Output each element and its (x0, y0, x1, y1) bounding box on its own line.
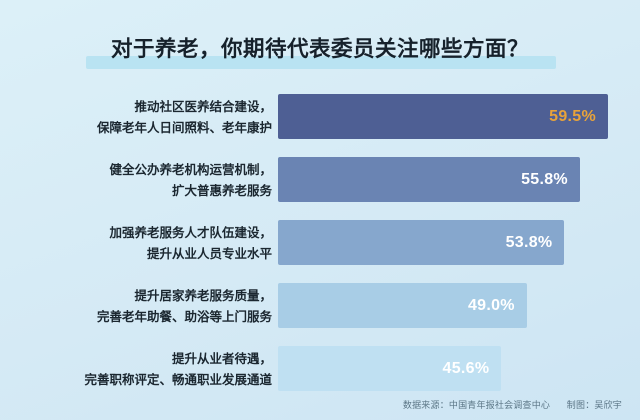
bar-label-line2: 扩大普惠养老服务 (0, 181, 272, 202)
bar-value-label: 53.8% (506, 234, 553, 252)
bar-label-line1: 加强养老服务人才队伍建设， (0, 223, 272, 244)
bar-label-line1: 健全公办养老机构运营机制， (0, 160, 272, 181)
bar-label: 提升从业者待遇， 完善职称评定、畅通职业发展通道 (0, 346, 272, 391)
bar-value-label: 45.6% (443, 360, 490, 378)
chart-row: 加强养老服务人才队伍建设， 提升从业人员专业水平 53.8% (0, 220, 640, 268)
chart-credit: 制图：吴欣宇 (567, 400, 622, 410)
data-source: 数据来源：中国青年报社会调查中心 (403, 400, 550, 410)
bar-label: 提升居家养老服务质量， 完善老年助餐、助浴等上门服务 (0, 283, 272, 328)
bar-track: 45.6% (278, 346, 608, 391)
bar-label-line2: 保障老年人日间照料、老年康护 (0, 118, 272, 139)
bar-track: 53.8% (278, 220, 608, 265)
chart-title-container: 对于养老，你期待代表委员关注哪些方面？ (0, 34, 640, 64)
bar-fill: 53.8% (278, 220, 564, 265)
bar-chart: 推动社区医养结合建设， 保障老年人日间照料、老年康护 59.5% 健全公办养老机… (0, 94, 640, 409)
bar-label: 推动社区医养结合建设， 保障老年人日间照料、老年康护 (0, 94, 272, 139)
bar-track: 59.5% (278, 94, 608, 139)
bar-value-label: 55.8% (521, 171, 568, 189)
bar-track: 49.0% (278, 283, 608, 328)
bar-label-line1: 提升从业者待遇， (0, 349, 272, 370)
bar-fill: 59.5% (278, 94, 608, 139)
bar-fill: 49.0% (278, 283, 527, 328)
bar-fill: 55.8% (278, 157, 580, 202)
bar-label-line2: 完善老年助餐、助浴等上门服务 (0, 307, 272, 328)
bar-value-label: 59.5% (549, 108, 596, 126)
bar-label-line2: 提升从业人员专业水平 (0, 244, 272, 265)
chart-row: 健全公办养老机构运营机制， 扩大普惠养老服务 55.8% (0, 157, 640, 205)
page-title: 对于养老，你期待代表委员关注哪些方面？ (0, 34, 640, 64)
infographic-page: 对于养老，你期待代表委员关注哪些方面？ 推动社区医养结合建设， 保障老年人日间照… (0, 0, 640, 420)
bar-fill: 45.6% (278, 346, 501, 391)
footer: 数据来源：中国青年报社会调查中心 制图：吴欣宇 (0, 398, 640, 411)
chart-row: 提升居家养老服务质量， 完善老年助餐、助浴等上门服务 49.0% (0, 283, 640, 331)
bar-label: 加强养老服务人才队伍建设， 提升从业人员专业水平 (0, 220, 272, 265)
chart-row: 提升从业者待遇， 完善职称评定、畅通职业发展通道 45.6% (0, 346, 640, 394)
chart-row: 推动社区医养结合建设， 保障老年人日间照料、老年康护 59.5% (0, 94, 640, 142)
bar-label-line1: 提升居家养老服务质量， (0, 286, 272, 307)
bar-label-line1: 推动社区医养结合建设， (0, 97, 272, 118)
bar-label: 健全公办养老机构运营机制， 扩大普惠养老服务 (0, 157, 272, 202)
bar-label-line2: 完善职称评定、畅通职业发展通道 (0, 370, 272, 391)
bar-track: 55.8% (278, 157, 608, 202)
bar-value-label: 49.0% (468, 297, 515, 315)
